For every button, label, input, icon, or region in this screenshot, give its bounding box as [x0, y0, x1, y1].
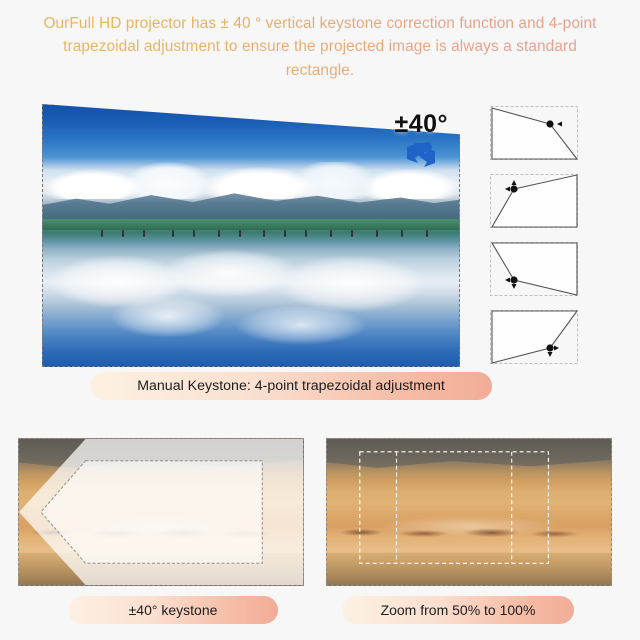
projector-keystone-infographic: OurFull HD projector has ± 40 ° vertical…: [0, 0, 640, 640]
trapezoid-keystone-overlay: [19, 439, 303, 585]
diagram-corner-bottom-left: [488, 240, 580, 298]
corner-adjust-diagram-list: [488, 104, 580, 367]
page-headline: OurFull HD projector has ± 40 ° vertical…: [36, 12, 604, 82]
four-way-move-cursor-icon: [406, 136, 440, 170]
dashed-zoom-frames: [327, 439, 611, 585]
water-reflection: [43, 249, 459, 359]
diagram-corner-top-left: [488, 172, 580, 230]
keystone-demo-photo: [18, 438, 304, 586]
zoom-demo-photo: [326, 438, 612, 586]
caption-keystone-range: ±40° keystone: [68, 596, 278, 624]
keystone-corrected-lake-photo: [42, 104, 460, 367]
main-photo-panel: ±40°: [42, 104, 460, 367]
caption-zoom-range: Zoom from 50% to 100%: [342, 596, 574, 624]
caption-manual-keystone: Manual Keystone: 4-point trapezoidal adj…: [90, 372, 492, 400]
people-silhouettes: [43, 228, 459, 244]
diagram-corner-bottom-right: [488, 308, 580, 366]
cloud-band: [43, 162, 459, 199]
angle-badge: ±40°: [394, 110, 448, 139]
diagram-corner-top-right: [488, 104, 580, 162]
